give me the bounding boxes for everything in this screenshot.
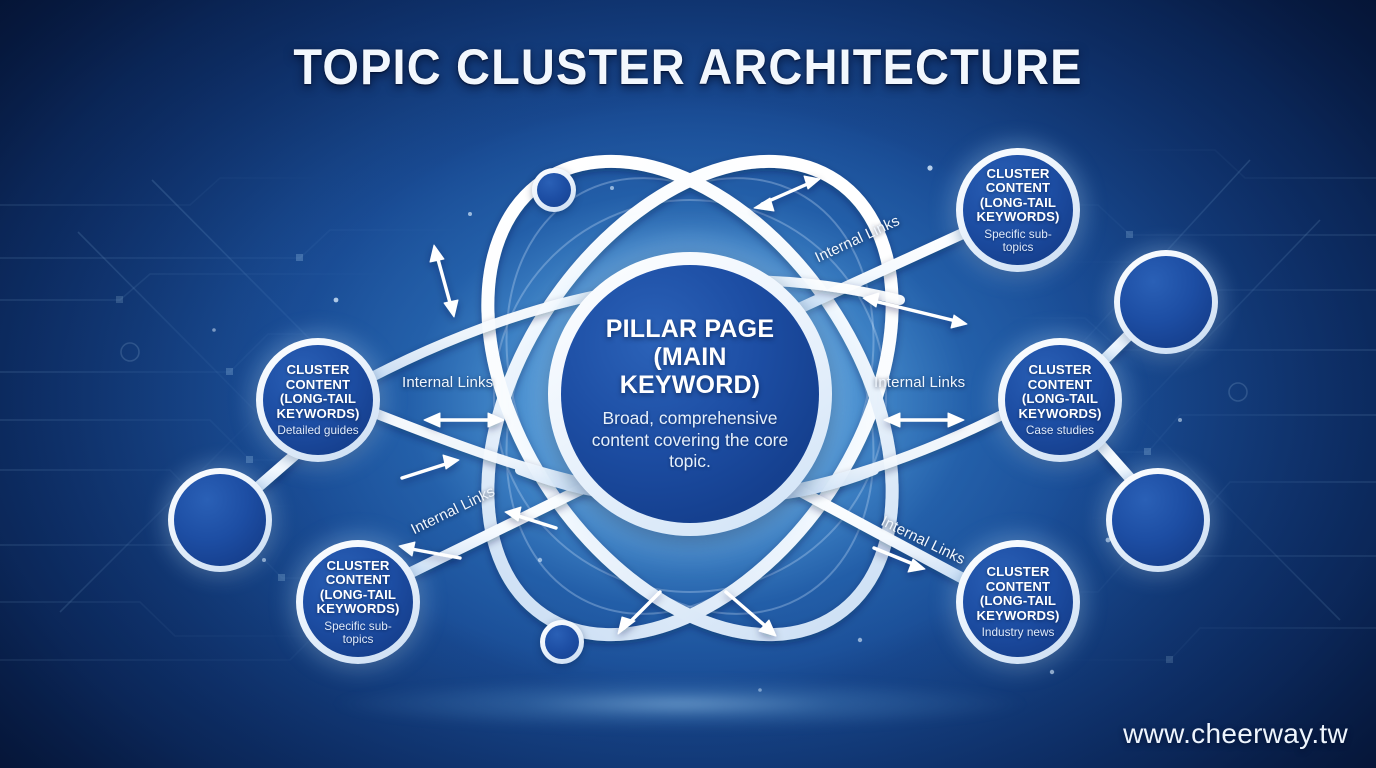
cluster-node-body: CLUSTER CONTENT (LONG-TAIL KEYWORDS) Cas…	[1005, 345, 1115, 455]
cluster-title-line4: KEYWORDS)	[317, 602, 400, 617]
cluster-title-line2: CONTENT	[326, 573, 390, 588]
cluster-subtitle: Case studies	[1026, 424, 1094, 437]
cluster-subtitle: Specific sub-topics	[969, 228, 1067, 254]
cluster-node-bottom-right[interactable]: CLUSTER CONTENT (LONG-TAIL KEYWORDS) Ind…	[956, 540, 1080, 664]
cluster-subtitle: Detailed guides	[277, 424, 358, 437]
cluster-title-line3: (LONG-TAIL	[1022, 392, 1098, 407]
cluster-node-right[interactable]: CLUSTER CONTENT (LONG-TAIL KEYWORDS) Cas…	[998, 338, 1122, 462]
cluster-subtitle: Specific sub-topics	[309, 620, 407, 646]
cluster-title-line1: CLUSTER	[287, 363, 350, 378]
bottom-light-glow	[330, 676, 1030, 732]
orbit-dot-top[interactable]	[532, 168, 576, 212]
cluster-title-line4: KEYWORDS)	[1019, 407, 1102, 422]
cluster-title-line2: CONTENT	[286, 378, 350, 393]
satellite-node-body	[174, 474, 266, 566]
orbit-dot-bottom[interactable]	[540, 620, 584, 664]
pillar-page-node[interactable]: PILLAR PAGE (MAIN KEYWORD) Broad, compre…	[548, 252, 832, 536]
cluster-title-line4: KEYWORDS)	[277, 407, 360, 422]
satellite-node-body	[1120, 256, 1212, 348]
cluster-node-body: CLUSTER CONTENT (LONG-TAIL KEYWORDS) Det…	[263, 345, 373, 455]
cluster-node-body: CLUSTER CONTENT (LONG-TAIL KEYWORDS) Spe…	[303, 547, 413, 657]
cluster-title-line1: CLUSTER	[987, 167, 1050, 182]
edge-label-right-horizontal: Internal Links	[874, 374, 965, 391]
page-title: TOPIC CLUSTER ARCHITECTURE	[41, 38, 1334, 96]
cluster-node-bottom-left[interactable]: CLUSTER CONTENT (LONG-TAIL KEYWORDS) Spe…	[296, 540, 420, 664]
satellite-node-left-lower[interactable]	[168, 468, 272, 572]
arrow-left-bidirectional	[424, 413, 504, 427]
cluster-subtitle: Industry news	[982, 626, 1055, 639]
footer-website-url[interactable]: www.cheerway.tw	[1123, 718, 1348, 750]
pillar-node-body: PILLAR PAGE (MAIN KEYWORD) Broad, compre…	[561, 265, 819, 523]
orbit-dot-body	[545, 625, 579, 659]
satellite-node-body	[1112, 474, 1204, 566]
orbit-dot-body	[537, 173, 571, 207]
satellite-node-right-upper[interactable]	[1114, 250, 1218, 354]
pillar-title-line2: (MAIN KEYWORD)	[585, 343, 795, 399]
cluster-title-line4: KEYWORDS)	[977, 609, 1060, 624]
satellite-node-right-lower[interactable]	[1106, 468, 1210, 572]
cluster-node-top-right[interactable]: CLUSTER CONTENT (LONG-TAIL KEYWORDS) Spe…	[956, 148, 1080, 272]
cluster-title-line3: (LONG-TAIL	[320, 588, 396, 603]
arrow-right-bidirectional	[884, 413, 964, 427]
cluster-title-line2: CONTENT	[1028, 378, 1092, 393]
cluster-title-line3: (LONG-TAIL	[280, 392, 356, 407]
cluster-node-body: CLUSTER CONTENT (LONG-TAIL KEYWORDS) Spe…	[963, 155, 1073, 265]
arrow-upper-left-bidirectional	[430, 245, 458, 317]
cluster-title-line3: (LONG-TAIL	[980, 594, 1056, 609]
cluster-title-line1: CLUSTER	[1029, 363, 1092, 378]
cluster-node-body: CLUSTER CONTENT (LONG-TAIL KEYWORDS) Ind…	[963, 547, 1073, 657]
cluster-title-line2: CONTENT	[986, 580, 1050, 595]
cluster-title-line1: CLUSTER	[327, 559, 390, 574]
cluster-title-line3: (LONG-TAIL	[980, 196, 1056, 211]
cluster-title-line2: CONTENT	[986, 181, 1050, 196]
cluster-node-left[interactable]: CLUSTER CONTENT (LONG-TAIL KEYWORDS) Det…	[256, 338, 380, 462]
cluster-title-line1: CLUSTER	[987, 565, 1050, 580]
infographic-canvas: TOPIC CLUSTER ARCHITECTURE PILLAR PAGE (…	[0, 0, 1376, 768]
arrow-bottom-left-up	[402, 455, 459, 478]
pillar-description: Broad, comprehensive content covering th…	[585, 408, 795, 472]
edge-label-left-horizontal: Internal Links	[402, 374, 493, 391]
pillar-title-line1: PILLAR PAGE	[606, 315, 774, 343]
cluster-title-line4: KEYWORDS)	[977, 210, 1060, 225]
